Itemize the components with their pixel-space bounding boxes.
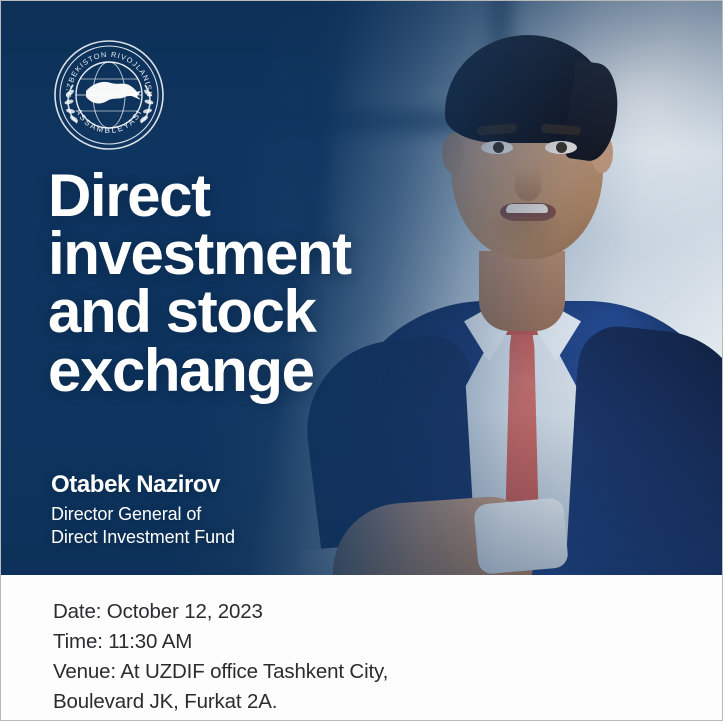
speaker-block: Otabek Nazirov Director General of Direc…	[51, 471, 235, 549]
event-venue-line-1: Venue: At UZDIF office Tashkent City,	[53, 657, 388, 687]
emblem-bottom-text: ASSAMBLEYASI	[74, 107, 144, 135]
speaker-role: Director General of Direct Investment Fu…	[51, 503, 235, 549]
event-venue-line-2: Boulevard JK, Furkat 2A.	[53, 687, 388, 717]
speaker-name: Otabek Nazirov	[51, 471, 235, 499]
footer-section: Date: October 12, 2023 Time: 11:30 AM Ve…	[1, 575, 723, 721]
title-line-3: and stock	[48, 283, 478, 341]
event-time: Time: 11:30 AM	[53, 627, 388, 657]
title-line-2: investment	[48, 225, 478, 283]
poster-title: Direct investment and stock exchange	[48, 167, 478, 400]
organization-emblem: O'ZBEKISTON RIVOJLANISH ASSAMBLEYASI	[53, 39, 165, 151]
event-date: Date: October 12, 2023	[53, 597, 388, 627]
title-line-4: exchange	[48, 342, 478, 400]
title-line-1: Direct	[48, 167, 478, 225]
event-poster: O'ZBEKISTON RIVOJLANISH ASSAMBLEYASI Dir…	[0, 0, 723, 721]
speaker-role-line-2: Direct Investment Fund	[51, 526, 235, 549]
speaker-role-line-1: Director General of	[51, 503, 235, 526]
hero-section: O'ZBEKISTON RIVOJLANISH ASSAMBLEYASI Dir…	[1, 1, 723, 575]
event-details: Date: October 12, 2023 Time: 11:30 AM Ve…	[53, 597, 388, 718]
